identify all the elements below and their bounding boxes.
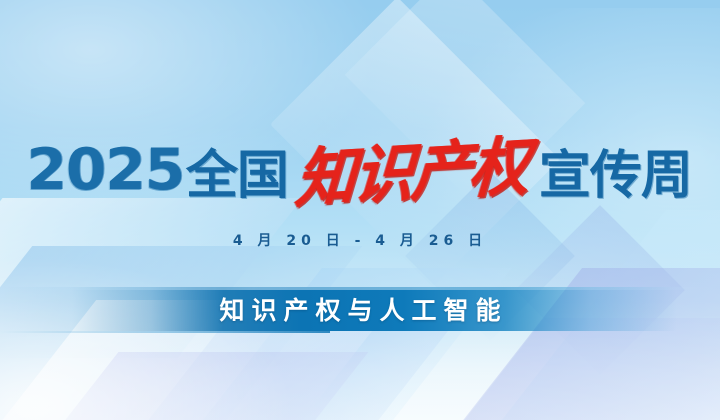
title-suffix: 宣传周 [539, 133, 692, 208]
ip-week-banner: 2025 全国 知识产权 宣传周 4 月 20 日 - 4 月 26 日 知识产… [0, 0, 720, 420]
title-highlight-calligraphy: 知识产权 [293, 114, 531, 220]
title-year: 2025 [27, 137, 185, 203]
date-range: 4 月 20 日 - 4 月 26 日 [0, 230, 720, 250]
background-glow-bottom-left [0, 252, 302, 420]
subtitle-bar: 知识产权与人工智能 [0, 287, 720, 331]
title-nationwide: 全国 [186, 133, 288, 208]
banner-title: 2025 全国 知识产权 宣传周 [0, 131, 720, 209]
subtitle-bar-highlight [0, 287, 720, 290]
subtitle-text: 知识产权与人工智能 [212, 291, 507, 327]
subtitle-bar-edge [0, 331, 330, 333]
